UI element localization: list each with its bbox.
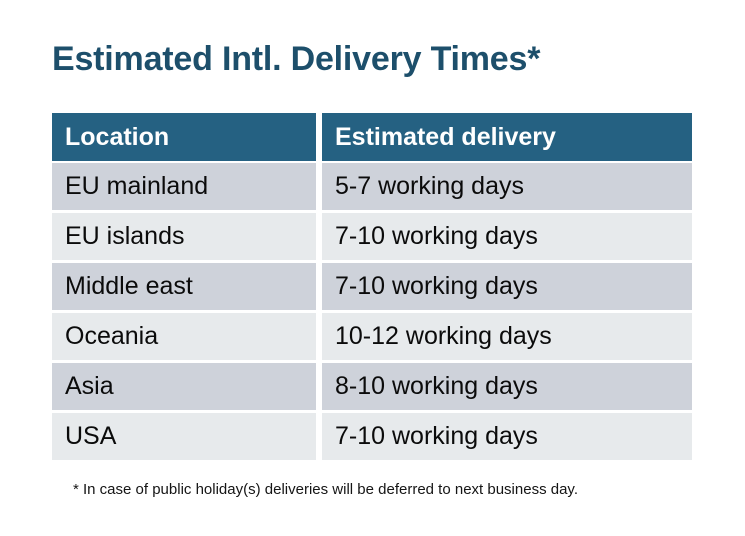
- cell-location: Middle east: [52, 263, 316, 310]
- cell-estimated-delivery: 7-10 working days: [322, 413, 692, 460]
- footnote-public-holiday: * In case of public holiday(s) deliverie…: [73, 480, 578, 500]
- table-row: Middle east 7-10 working days: [52, 263, 692, 310]
- cell-location: EU islands: [52, 213, 316, 260]
- cell-location: EU mainland: [52, 163, 316, 210]
- table-row: Oceania 10-12 working days: [52, 313, 692, 360]
- page-title: Estimated Intl. Delivery Times*: [52, 38, 540, 80]
- estimated-delivery-times-table: Location Estimated delivery EU mainland …: [52, 113, 692, 460]
- table-row: USA 7-10 working days: [52, 413, 692, 460]
- column-header-estimated-delivery: Estimated delivery: [322, 113, 692, 161]
- table-row: EU islands 7-10 working days: [52, 213, 692, 260]
- cell-location: Asia: [52, 363, 316, 410]
- cell-estimated-delivery: 8-10 working days: [322, 363, 692, 410]
- cell-location: Oceania: [52, 313, 316, 360]
- cell-estimated-delivery: 5-7 working days: [322, 163, 692, 210]
- delivery-times-page: Estimated Intl. Delivery Times* Location…: [0, 0, 745, 536]
- cell-estimated-delivery: 7-10 working days: [322, 213, 692, 260]
- table-header-row: Location Estimated delivery: [52, 113, 692, 161]
- column-header-location: Location: [52, 113, 316, 161]
- cell-location: USA: [52, 413, 316, 460]
- cell-estimated-delivery: 10-12 working days: [322, 313, 692, 360]
- table-row: Asia 8-10 working days: [52, 363, 692, 410]
- table-row: EU mainland 5-7 working days: [52, 163, 692, 210]
- cell-estimated-delivery: 7-10 working days: [322, 263, 692, 310]
